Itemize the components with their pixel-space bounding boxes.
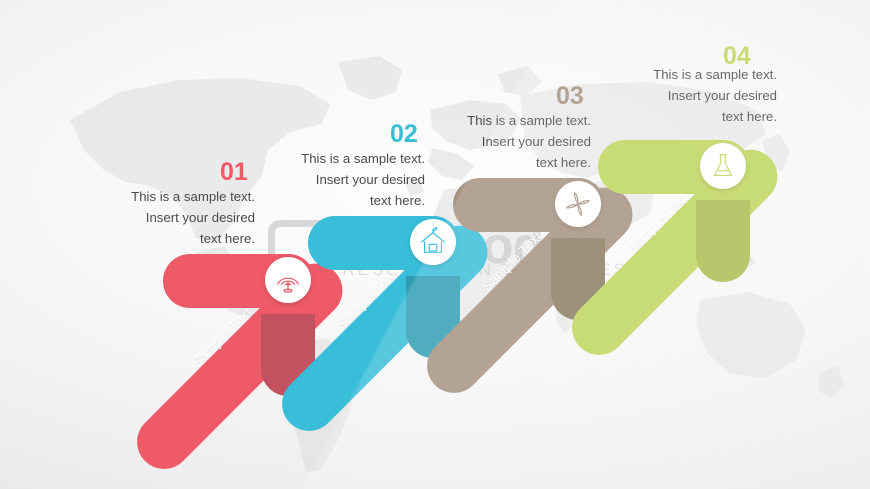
step-arrow-4[interactable]: Sample Text 04 This is a sample text. In…	[0, 0, 870, 489]
step-4-text-line-1: This is a sample text.	[597, 65, 777, 86]
slide-canvas: slideModel PRESENTATION TEMPLATES Sample…	[0, 0, 870, 489]
step-4-text-line-2: Insert your desired	[597, 86, 777, 107]
flask-icon	[708, 151, 738, 181]
step-4-text-line-3: text here.	[597, 107, 777, 128]
step-4-icon-badge[interactable]	[700, 143, 746, 189]
step-4-description: This is a sample text. Insert your desir…	[597, 65, 777, 128]
